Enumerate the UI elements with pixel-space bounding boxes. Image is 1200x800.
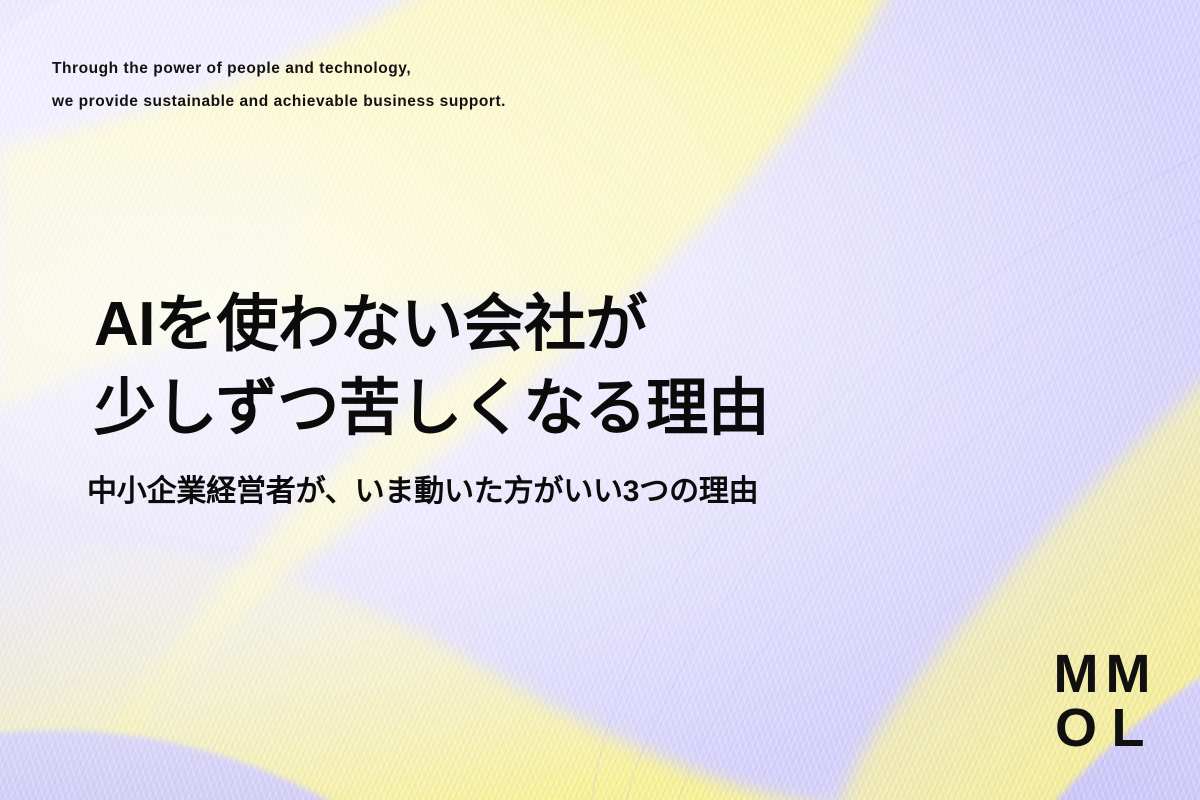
logo-letter-l: L — [1102, 700, 1154, 754]
mmol-logo: M M O L — [1050, 648, 1154, 752]
logo-row-top: M M — [1050, 648, 1154, 700]
logo-letter-o: O — [1050, 700, 1102, 754]
tagline-line-2: we provide sustainable and achievable bu… — [52, 85, 506, 118]
headline: AIを使わない会社が 少しずつ苦しくなる理由 — [94, 283, 769, 451]
thumbnail-canvas: Through the power of people and technolo… — [0, 0, 1200, 800]
logo-row-bottom: O L — [1050, 700, 1154, 754]
subtitle: 中小企業経営者が、いま動いた方がいい3つの理由 — [87, 472, 758, 512]
logo-letter-m1: M — [1050, 648, 1102, 700]
tagline: Through the power of people and technolo… — [52, 52, 506, 118]
logo-letter-m2: M — [1102, 648, 1154, 700]
tagline-line-1: Through the power of people and technolo… — [52, 52, 506, 85]
headline-line-1: AIを使わない会社が — [94, 283, 769, 367]
headline-line-2: 少しずつ苦しくなる理由 — [94, 367, 769, 451]
